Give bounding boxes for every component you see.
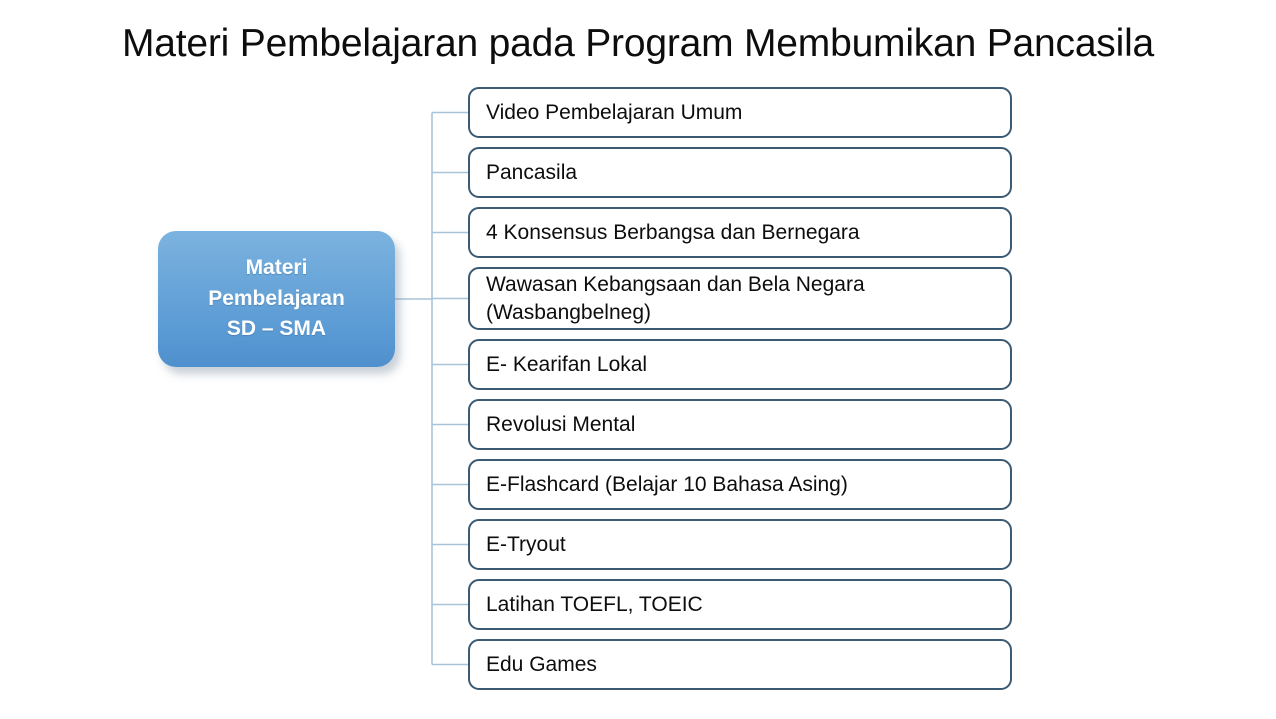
item-box[interactable]: Wawasan Kebangsaan dan Bela Negara (Wasb… [468,267,1012,330]
item-box-label: E-Flashcard (Belajar 10 Bahasa Asing) [486,471,848,498]
item-box-label: Edu Games [486,651,597,678]
item-box[interactable]: Latihan TOEFL, TOEIC [468,579,1012,630]
item-box-label: Latihan TOEFL, TOEIC [486,591,703,618]
item-box[interactable]: Pancasila [468,147,1012,198]
item-box-label: E-Tryout [486,531,566,558]
item-box[interactable]: E- Kearifan Lokal [468,339,1012,390]
item-box[interactable]: 4 Konsensus Berbangsa dan Bernegara [468,207,1012,258]
root-node-label: Materi Pembelajaran SD – SMA [208,253,345,344]
page-title: Materi Pembelajaran pada Program Membumi… [0,22,1276,66]
root-node[interactable]: Materi Pembelajaran SD – SMA [158,231,395,367]
item-box-label: Video Pembelajaran Umum [486,99,742,126]
item-box[interactable]: E-Flashcard (Belajar 10 Bahasa Asing) [468,459,1012,510]
item-box-label: Wawasan Kebangsaan dan Bela Negara (Wasb… [486,271,865,326]
connector-group [395,113,468,665]
item-box-label: Pancasila [486,159,577,186]
item-box-list: Video Pembelajaran UmumPancasila4 Konsen… [468,87,1012,699]
item-box[interactable]: E-Tryout [468,519,1012,570]
item-box-label: Revolusi Mental [486,411,635,438]
item-box[interactable]: Revolusi Mental [468,399,1012,450]
item-box-label: E- Kearifan Lokal [486,351,647,378]
item-box[interactable]: Video Pembelajaran Umum [468,87,1012,138]
item-box[interactable]: Edu Games [468,639,1012,690]
item-box-label: 4 Konsensus Berbangsa dan Bernegara [486,219,860,246]
